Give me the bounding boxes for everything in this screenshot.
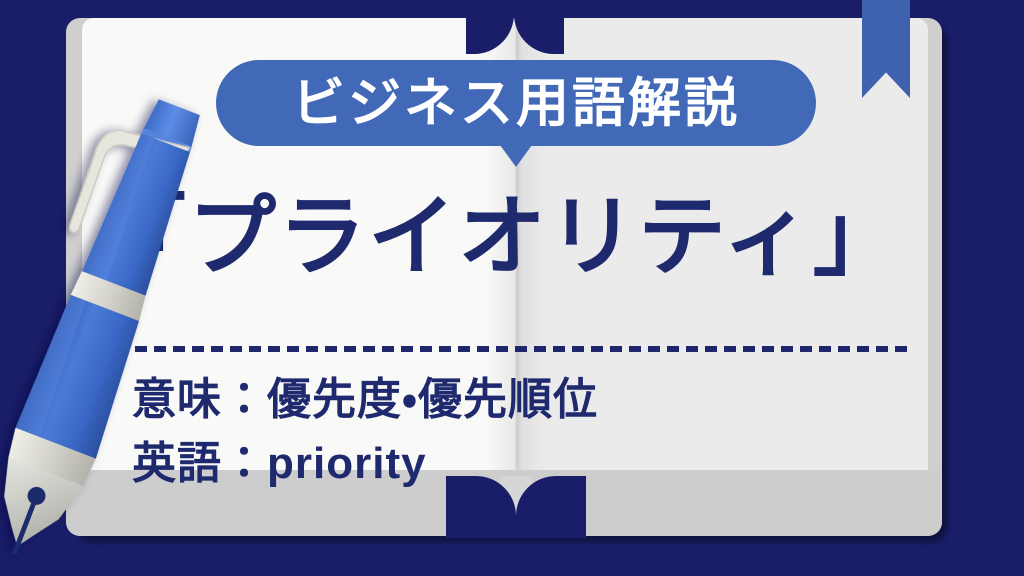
category-badge-label: ビジネス用語解説 <box>292 77 740 130</box>
slide-canvas: ビジネス用語解説 「プライオリティ」 意味：優先度・優先順位 英語：priori… <box>0 0 1024 576</box>
fountain-pen-icon <box>0 70 218 570</box>
page-title: 「プライオリティ」 <box>98 188 928 287</box>
badge-tail-icon <box>500 145 532 167</box>
category-badge: ビジネス用語解説 <box>216 60 816 146</box>
category-badge-pill: ビジネス用語解説 <box>216 60 816 146</box>
dashed-divider <box>116 346 912 352</box>
